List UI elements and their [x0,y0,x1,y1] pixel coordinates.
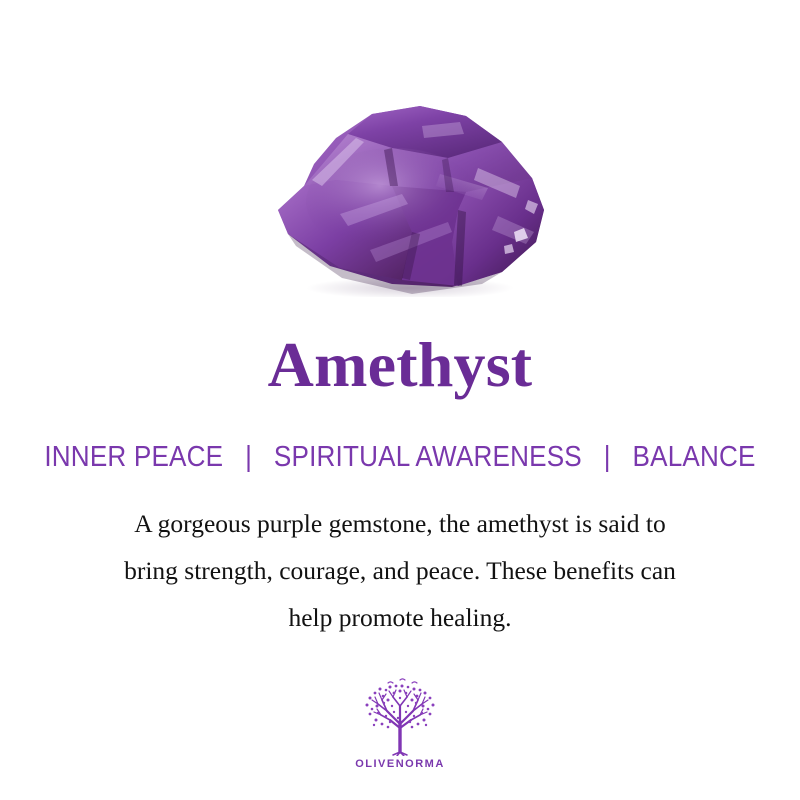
description-line: help promote healing. [40,594,760,641]
brand-logo: OLIVENORMA [0,678,800,770]
keyword-strip: INNER PEACE | SPIRITUAL AWARENESS | BALA… [40,441,760,474]
amethyst-info-card: Amethyst INNER PEACE | SPIRITUAL AWARENE… [0,0,800,800]
brand-name: OLIVENORMA [0,758,800,770]
keyword-separator-2: | [589,441,625,473]
gemstone-figure [0,62,800,302]
keyword-balance: BALANCE [633,441,756,473]
description-text: A gorgeous purple gemstone, the amethyst… [40,500,760,641]
tree-of-life-icon [354,678,446,756]
bird-glyphs [388,679,417,683]
page-title: Amethyst [0,331,800,398]
description-line: bring strength, courage, and peace. Thes… [40,547,760,594]
amethyst-crystal-svg [252,82,552,297]
keyword-spiritual-awareness: SPIRITUAL AWARENESS [274,441,582,473]
description-line: A gorgeous purple gemstone, the amethyst… [40,500,760,547]
gem-body [278,106,544,294]
keyword-separator-1: | [231,441,267,473]
amethyst-crystal-image [252,82,552,297]
keyword-inner-peace: INNER PEACE [44,441,223,473]
